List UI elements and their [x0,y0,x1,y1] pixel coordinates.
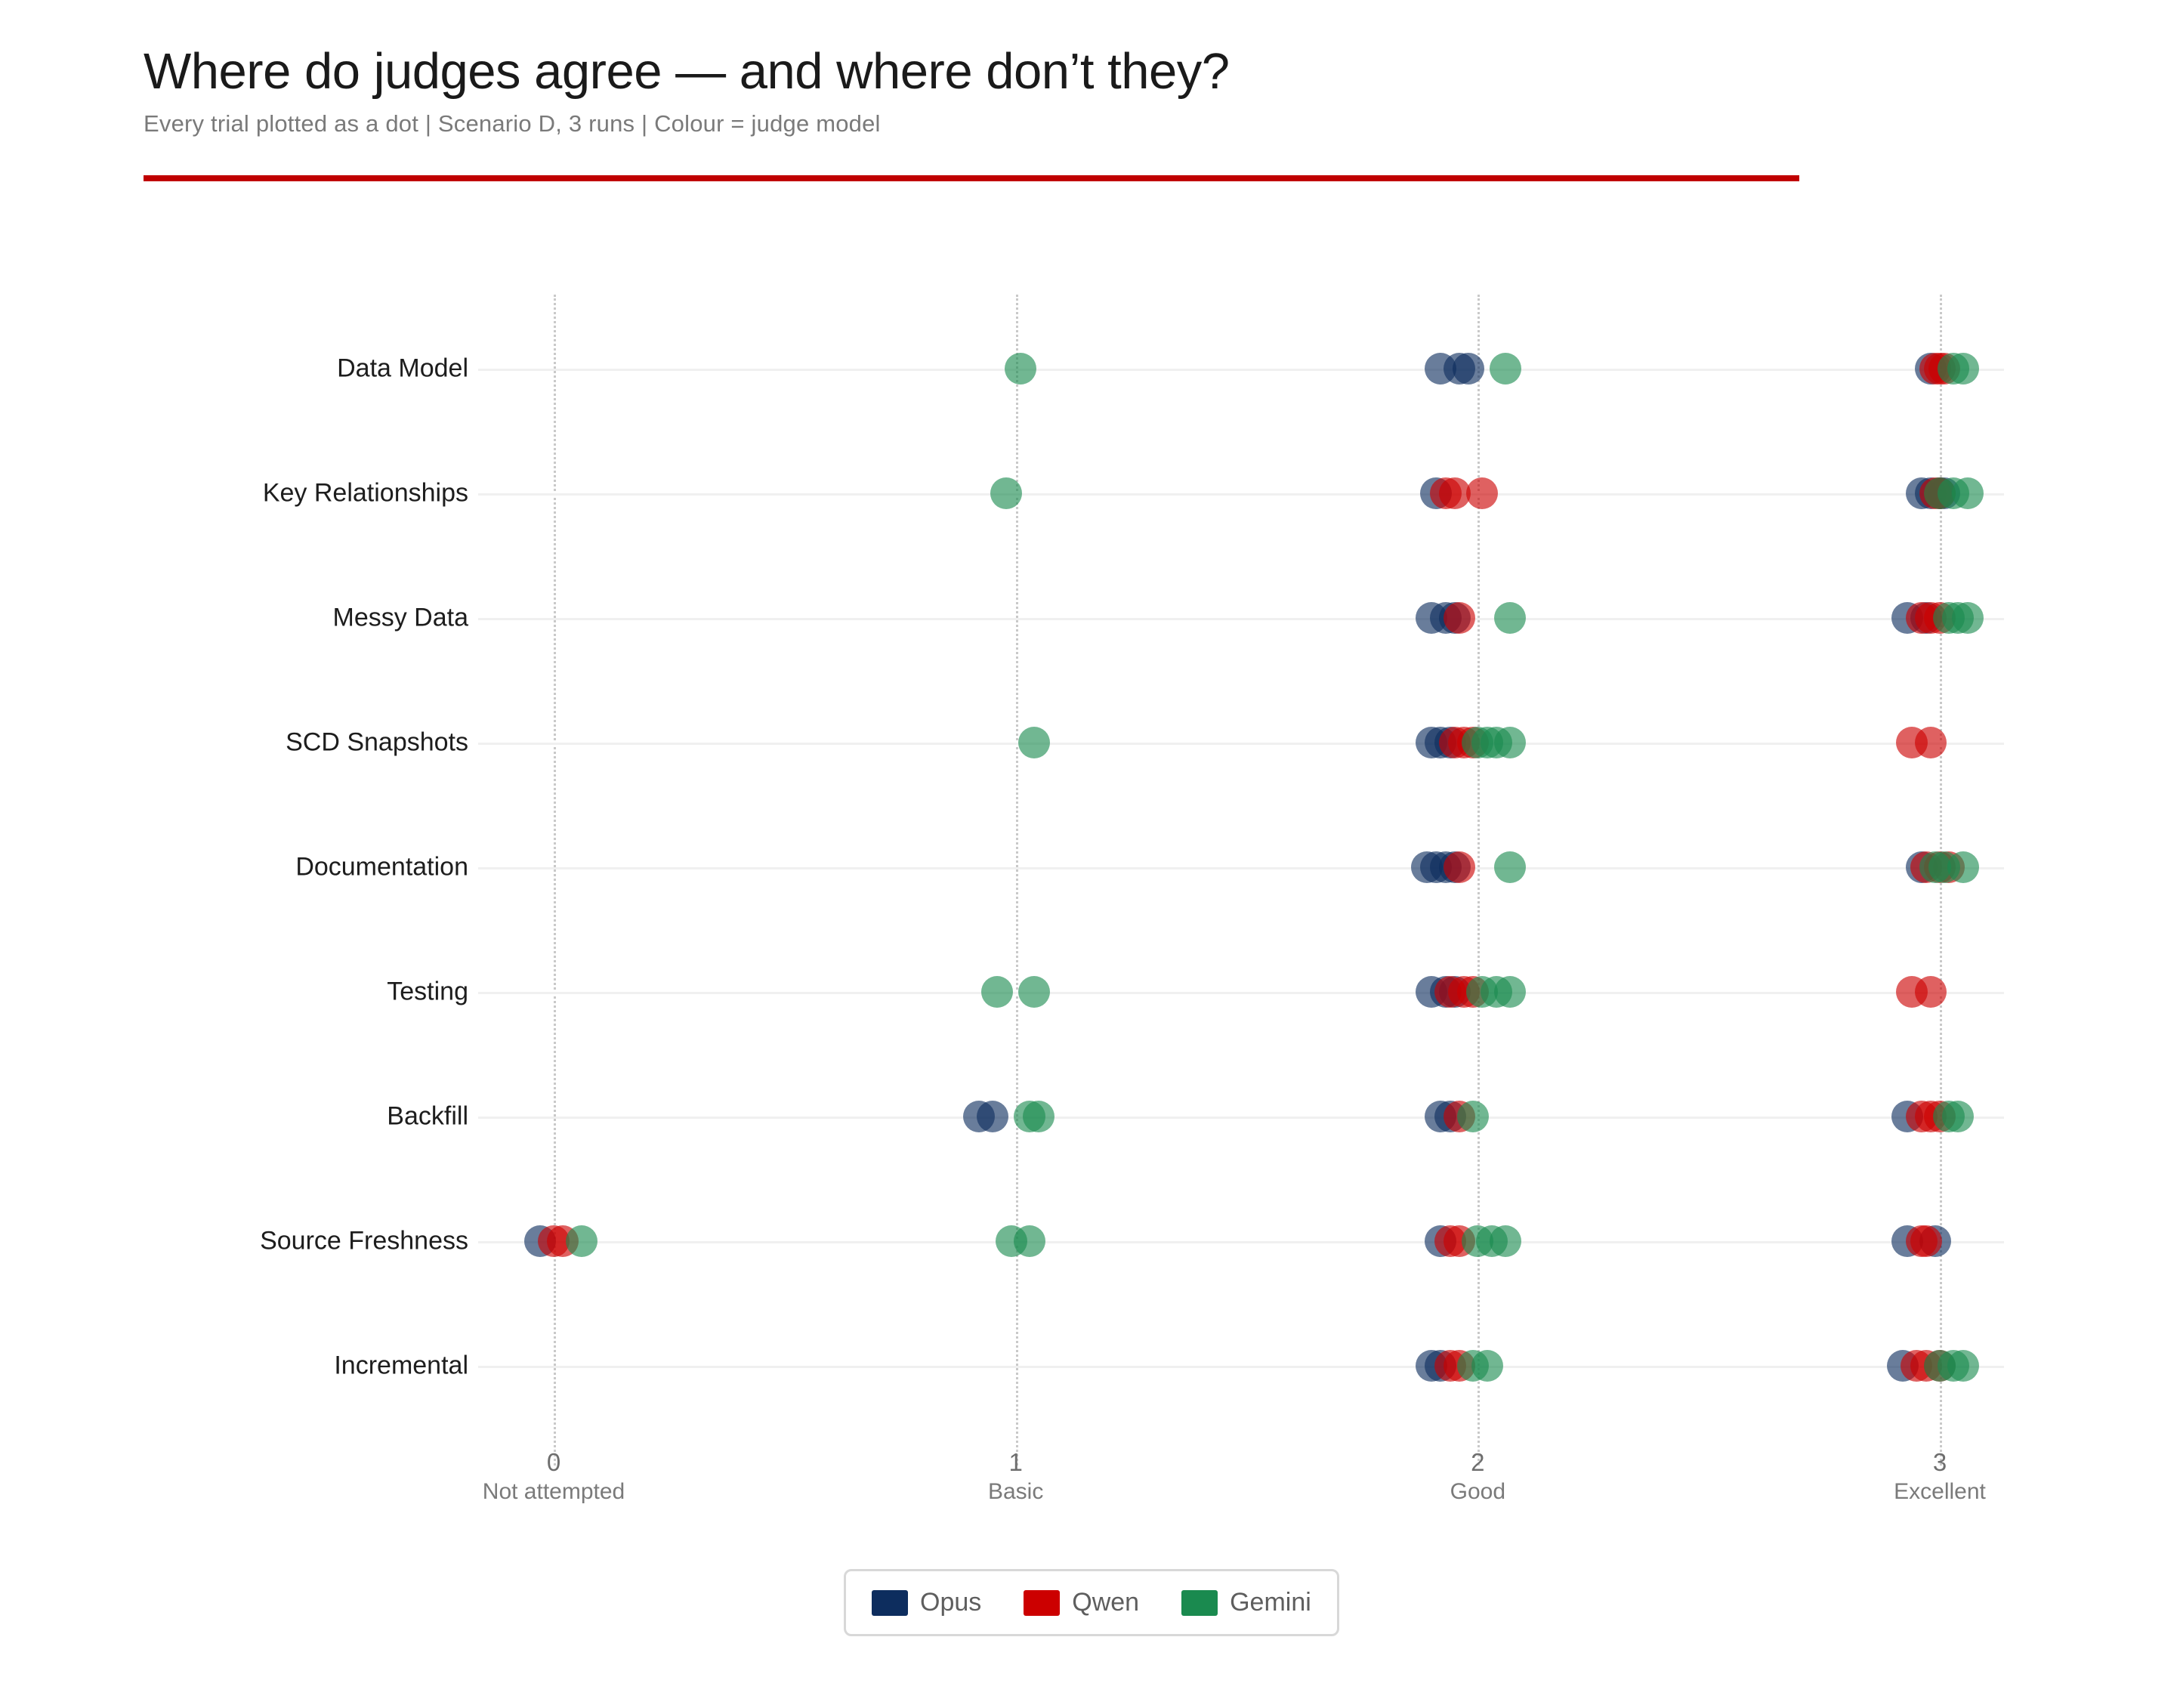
x-gridline [1478,295,1480,1466]
legend-label: Qwen [1072,1588,1139,1617]
chart-header: Where do judges agree — and where don’t … [144,45,2032,137]
data-point [1005,353,1036,385]
row-gridline [478,493,2004,496]
y-axis-label: SCD Snapshots [286,728,468,758]
header-rule [144,175,1799,181]
data-point [1494,602,1526,634]
data-point [1014,1225,1045,1257]
data-point [1444,851,1475,883]
legend-swatch-icon [872,1590,908,1616]
legend-swatch-icon [1181,1590,1218,1616]
row-gridline [478,369,2004,371]
y-axis-label: Messy Data [333,604,469,633]
y-axis-label: Data Model [337,354,468,384]
row-gridline [478,618,2004,620]
data-point [1947,1350,1979,1382]
data-point [566,1225,597,1257]
data-point [1490,1225,1521,1257]
data-point [1942,1101,1974,1132]
chart-page: Where do judges agree — and where don’t … [0,0,2180,1708]
data-point [1490,353,1521,385]
data-point [1494,976,1526,1008]
data-point [977,1101,1008,1132]
data-point [1457,1101,1489,1132]
x-tick: 3Excellent [1894,1447,1986,1506]
y-axis-label: Incremental [334,1351,468,1381]
x-tick: 2Good [1450,1447,1505,1506]
chart-legend: OpusQwenGemini [844,1569,1339,1636]
y-axis-label: Testing [387,978,468,1007]
page-title: Where do judges agree — and where don’t … [144,45,2032,98]
data-point [1471,1350,1503,1382]
page-subtitle: Every trial plotted as a dot | Scenario … [144,110,2032,137]
x-tick-category: Not attempted [483,1478,625,1506]
data-point [1947,353,1979,385]
row-gridline [478,743,2004,745]
x-tick-category: Basic [988,1478,1043,1506]
data-point [1453,353,1484,385]
row-gridline [478,867,2004,869]
plot-area [554,295,1940,1466]
legend-swatch-icon [1024,1590,1060,1616]
x-tick-number: 1 [988,1447,1043,1478]
legend-item-opus[interactable]: Opus [872,1588,981,1617]
data-point [1018,976,1050,1008]
data-point [1915,727,1947,758]
x-tick: 0Not attempted [483,1447,625,1506]
data-point [1466,477,1498,509]
legend-label: Opus [920,1588,981,1617]
x-tick-number: 0 [483,1447,625,1478]
data-point [990,477,1022,509]
data-point [1494,851,1526,883]
y-axis-label: Documentation [295,853,468,882]
row-gridline [478,1241,2004,1243]
x-tick-category: Excellent [1894,1478,1986,1506]
x-gridline [554,295,556,1466]
x-tick-number: 2 [1450,1447,1505,1478]
data-point [1952,477,1984,509]
legend-item-qwen[interactable]: Qwen [1024,1588,1139,1617]
x-tick: 1Basic [988,1447,1043,1506]
data-point [1947,851,1979,883]
x-tick-number: 3 [1894,1447,1986,1478]
legend-label: Gemini [1230,1588,1311,1617]
y-axis-label: Source Freshness [260,1227,468,1256]
row-gridline [478,1366,2004,1368]
data-point [1444,602,1475,634]
legend-item-gemini[interactable]: Gemini [1181,1588,1311,1617]
x-tick-category: Good [1450,1478,1505,1506]
data-point [1439,477,1471,509]
data-point [1910,1225,1942,1257]
data-point [981,976,1013,1008]
data-point [1915,976,1947,1008]
row-gridline [478,992,2004,994]
data-point [1023,1101,1054,1132]
data-point [1018,727,1050,758]
x-axis-ticks: 0Not attempted1Basic2Good3Excellent [0,1447,2180,1537]
data-point [1494,727,1526,758]
data-point [1952,602,1984,634]
row-gridline [478,1117,2004,1119]
y-axis-label: Backfill [387,1102,468,1132]
x-gridline [1016,295,1018,1466]
y-axis-label: Key Relationships [263,479,468,508]
